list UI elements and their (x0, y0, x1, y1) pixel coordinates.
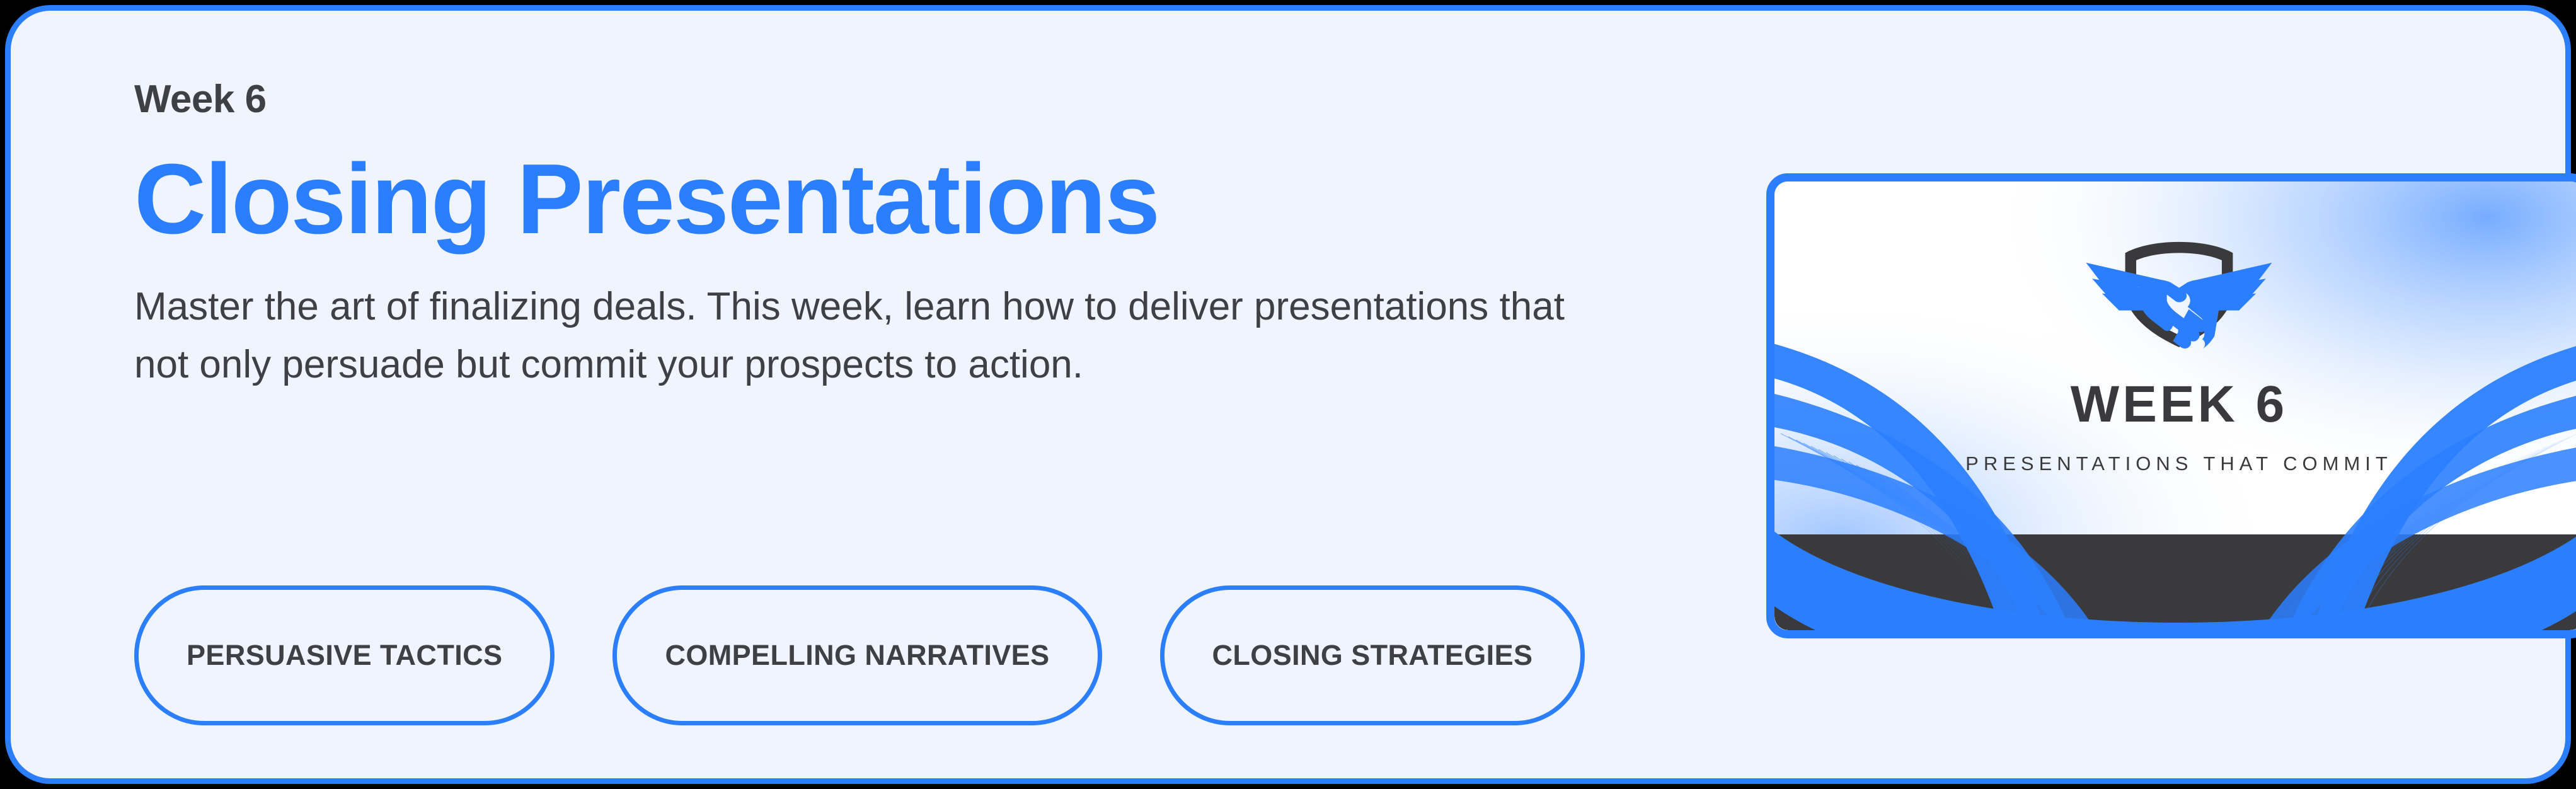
card-frame: WEEK 6 PRESENTATIONS THAT COMMIT (1766, 173, 2576, 638)
card-week-title: WEEK 6 (2071, 379, 2287, 430)
banner-description: Master the art of finalizing deals. This… (134, 278, 1602, 394)
tag-closing-strategies[interactable]: CLOSING STRATEGIES (1160, 585, 1585, 725)
week-eyebrow-label: Week 6 (134, 80, 1659, 119)
tag-persuasive-tactics[interactable]: PERSUASIVE TACTICS (134, 585, 555, 725)
winged-handshake-shield-icon (2075, 231, 2283, 354)
card-inner: WEEK 6 PRESENTATIONS THAT COMMIT (1774, 181, 2576, 630)
week-banner: Week 6 Closing Presentations Master the … (5, 5, 2571, 784)
card-body: WEEK 6 PRESENTATIONS THAT COMMIT (1774, 231, 2576, 479)
page-title: Closing Presentations (134, 149, 1659, 249)
card-tagline: PRESENTATIONS THAT COMMIT (1965, 449, 2393, 479)
banner-content: Week 6 Closing Presentations Master the … (134, 80, 1659, 394)
topic-tag-list: PERSUASIVE TACTICS COMPELLING NARRATIVES… (134, 585, 1585, 725)
week-cover-card[interactable]: WEEK 6 PRESENTATIONS THAT COMMIT (1766, 173, 2576, 638)
tag-compelling-narratives[interactable]: COMPELLING NARRATIVES (612, 585, 1101, 725)
